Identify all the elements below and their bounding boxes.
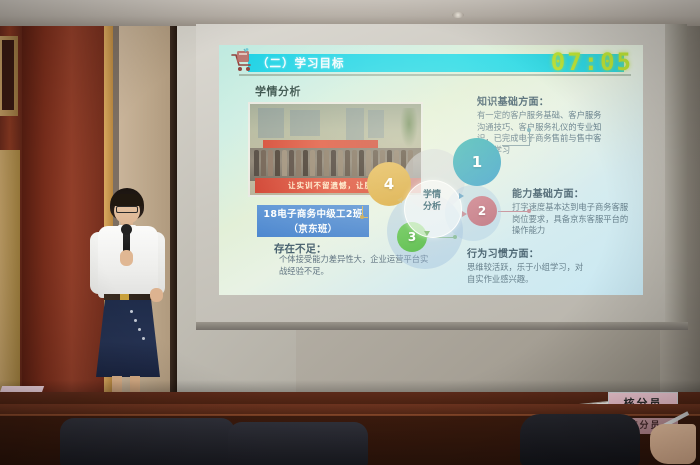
photo-window (368, 110, 384, 138)
microphone-head-icon (121, 224, 132, 235)
connector-dot-1 (527, 128, 531, 132)
connector-line-1 (502, 145, 530, 146)
class-tag-line1: 18电子商务中级工2班 (257, 207, 369, 222)
chair-back (60, 418, 235, 465)
section-2-heading: 能力基础方面： (512, 185, 630, 200)
center-label-line2: 分析 (404, 201, 460, 213)
connector-line-2 (498, 211, 530, 212)
presenter-belt-buckle (120, 294, 129, 300)
presenter-skirt (96, 299, 160, 377)
chair-back (228, 422, 368, 465)
slide-subtitle: 学情分析 (255, 83, 301, 99)
connector-dot-2 (527, 209, 531, 213)
photo-window (346, 108, 364, 140)
diagram-circle-1[interactable]: 1 (453, 138, 501, 186)
countdown-timer: 07:05 (551, 50, 633, 74)
diagram-arrow-icon (424, 231, 430, 236)
slide-title: （二）学习目标 (257, 55, 345, 71)
class-name-tag: 18电子商务中级工2班 （京东班） (257, 205, 369, 237)
section-2-body: 打字速度基本达到电子商务客服岗位要求，具备京东客服平台的操作能力 (512, 202, 630, 237)
presenter-hand-left (120, 250, 133, 266)
section-1-heading: 知识基础方面： (477, 93, 603, 108)
presenter-fringe (111, 194, 143, 206)
audience-hand (650, 424, 696, 464)
connector-line-1b (529, 131, 530, 146)
presenter-hand-right (150, 288, 163, 302)
center-label-line1: 学情 (404, 189, 460, 201)
diagram-center-label: 学情 分析 (404, 189, 460, 213)
connector-dot-4 (360, 215, 364, 219)
screenshot-root: （二）学习目标 07:05 学情分析 (0, 0, 700, 465)
diagram-circle-2[interactable]: 2 (467, 196, 497, 226)
diagram-arrow-icon (462, 211, 467, 217)
section-3-heading: 行为习惯方面： (467, 245, 587, 260)
presenter (78, 188, 178, 388)
photo-window (290, 110, 320, 136)
projection-screen-edge (665, 24, 687, 326)
ceiling (0, 0, 700, 26)
photo-window (258, 108, 284, 138)
photo-tree (400, 108, 418, 148)
ceiling-light-icon (452, 12, 464, 18)
wall-cabinet (0, 150, 20, 400)
door-glass (2, 40, 14, 110)
diagram-arrow-icon (397, 197, 402, 203)
projection-screen-bottom-bar (196, 322, 688, 330)
class-tag-line2: （京东班） (257, 222, 369, 237)
presentation-slide: （二）学习目标 07:05 学情分析 (219, 45, 643, 295)
shopping-cart-icon (228, 48, 256, 75)
chair-back-foreground (520, 414, 640, 465)
section-3-body: 思维较活跃，乐于小组学习，对自实作业感兴趣。 (467, 262, 587, 285)
section-behaviour: 行为习惯方面： 思维较活跃，乐于小组学习，对自实作业感兴趣。 (467, 245, 587, 285)
glasses-icon (116, 206, 138, 213)
diagram-arrow-icon (459, 193, 464, 199)
